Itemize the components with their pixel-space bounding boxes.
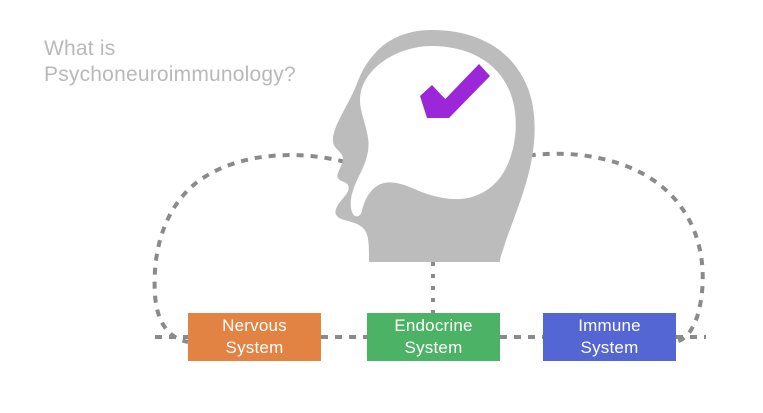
node-immune-system-label-1: Immune [578,315,641,337]
node-endocrine-system[interactable]: Endocrine System [367,313,500,361]
page-title: What is Psychoneuroimmunology? [44,36,296,87]
node-immune-system-label-2: System [581,337,639,359]
page-title-line-2: Psychoneuroimmunology? [44,62,296,88]
page-title-line-1: What is [44,36,296,62]
node-nervous-system-label-1: Nervous [222,315,287,337]
node-nervous-system[interactable]: Nervous System [188,313,321,361]
node-immune-system[interactable]: Immune System [543,313,676,361]
node-nervous-system-label-2: System [226,337,284,359]
node-endocrine-system-label-2: System [405,337,463,359]
node-endocrine-system-label-1: Endocrine [394,315,472,337]
diagram-canvas: What is Psychoneuroimmunology? Nervous S… [0,0,763,413]
